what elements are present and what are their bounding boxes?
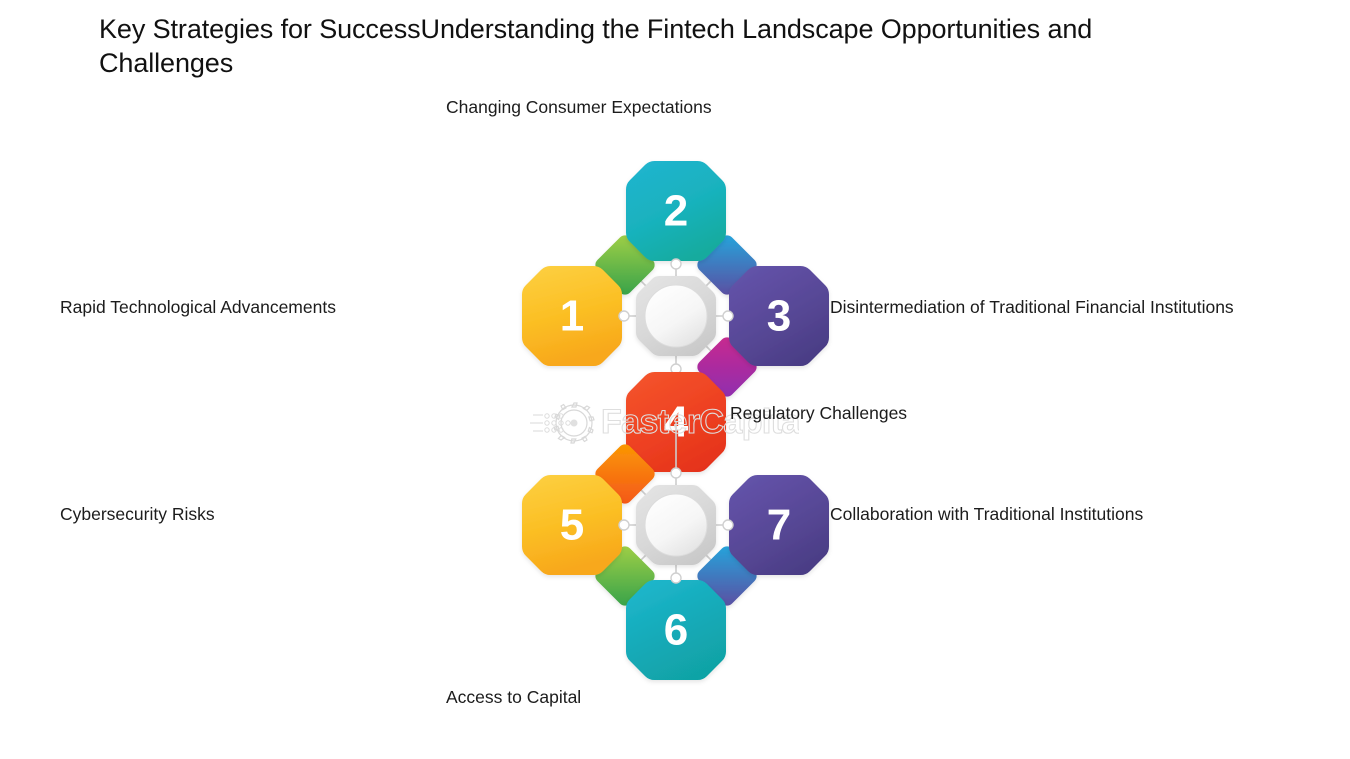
cluster-bottom: 5 7 6 — [522, 422, 829, 680]
callout-label-4: Regulatory Challenges — [730, 402, 1130, 424]
hub-center-bottom — [636, 485, 716, 565]
node-1-number: 1 — [560, 292, 584, 341]
node-1[interactable]: 1 — [522, 266, 622, 366]
callout-label-1: Rapid Technological Advancements — [0, 296, 360, 318]
node-6[interactable]: 6 — [626, 580, 726, 680]
node-3[interactable]: 3 — [729, 266, 829, 366]
node-5-number: 5 — [560, 501, 584, 550]
node-2-number: 2 — [664, 187, 688, 236]
node-2[interactable]: 2 — [626, 161, 726, 261]
node-3-number: 3 — [767, 292, 791, 341]
callout-label-2: Changing Consumer Expectations — [389, 96, 846, 118]
callout-label-3: Disintermediation of Traditional Financi… — [830, 296, 1350, 318]
callout-label-5: Cybersecurity Risks — [0, 503, 360, 525]
callout-label-6: Access to Capital — [389, 686, 706, 708]
node-6-number: 6 — [664, 606, 688, 655]
node-7-number: 7 — [767, 501, 791, 550]
node-5[interactable]: 5 — [522, 475, 622, 575]
node-7[interactable]: 7 — [729, 475, 829, 575]
hub-center-top — [636, 276, 716, 356]
callout-label-7: Collaboration with Traditional Instituti… — [830, 503, 1250, 525]
